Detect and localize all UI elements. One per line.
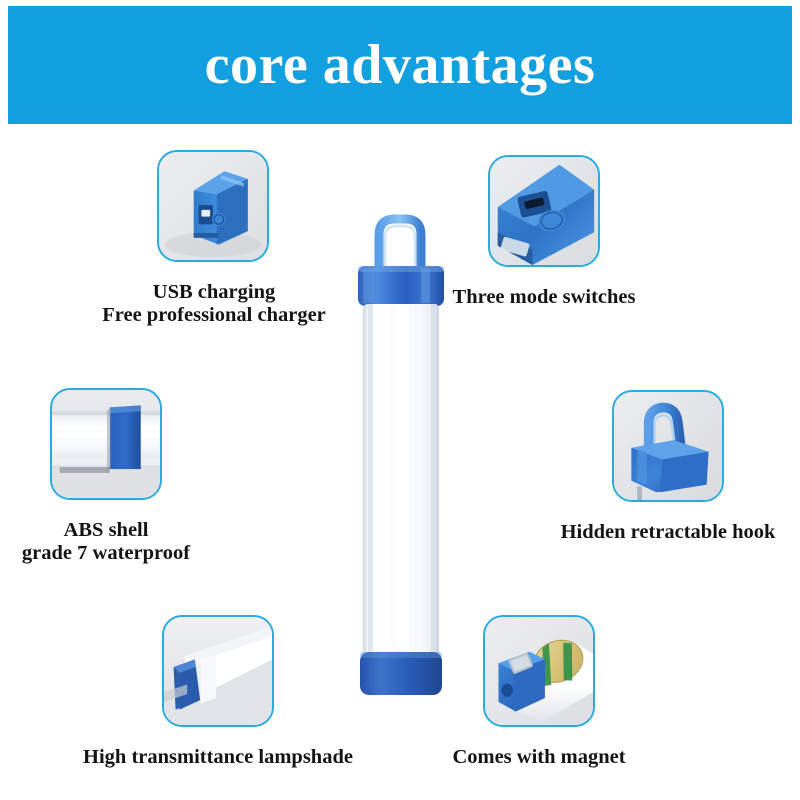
feature-caption-retractable-hook: Hidden retractable hook xyxy=(536,521,800,544)
lampshade-diffuser-icon xyxy=(162,615,274,727)
feature-lampshade[interactable]: High transmittance lampshade xyxy=(162,615,274,727)
feature-caption-usb-charging: USB charging Free professional charger xyxy=(65,281,363,327)
feature-magnet[interactable]: Comes with magnet xyxy=(483,615,595,727)
feature-abs-shell[interactable]: ABS shell grade 7 waterproof xyxy=(50,388,162,500)
lamp-body xyxy=(363,304,439,660)
lamp-bottom-cap xyxy=(360,652,442,695)
feature-caption-magnet: Comes with magnet xyxy=(445,746,633,769)
feature-usb-charging[interactable]: USB charging Free professional charger xyxy=(157,150,269,262)
feature-caption-three-mode-switches: Three mode switches xyxy=(440,286,648,309)
feature-caption-abs-shell: ABS shell grade 7 waterproof xyxy=(5,519,207,565)
magnet-adhesive-icon xyxy=(483,615,595,727)
led-tube-illustration xyxy=(349,205,453,700)
header-banner: core advantages xyxy=(8,6,792,124)
page-title: core advantages xyxy=(205,37,596,93)
mode-switch-button-icon xyxy=(488,155,600,267)
feature-three-mode-switches[interactable]: Three mode switches xyxy=(488,155,600,267)
usb-charger-plug-icon xyxy=(157,150,269,262)
abs-shell-body-icon xyxy=(50,388,162,500)
feature-retractable-hook[interactable]: Hidden retractable hook xyxy=(612,390,724,502)
retractable-hook-icon xyxy=(612,390,724,502)
feature-caption-lampshade: High transmittance lampshade xyxy=(70,746,366,769)
product-led-tube-light xyxy=(349,205,453,700)
